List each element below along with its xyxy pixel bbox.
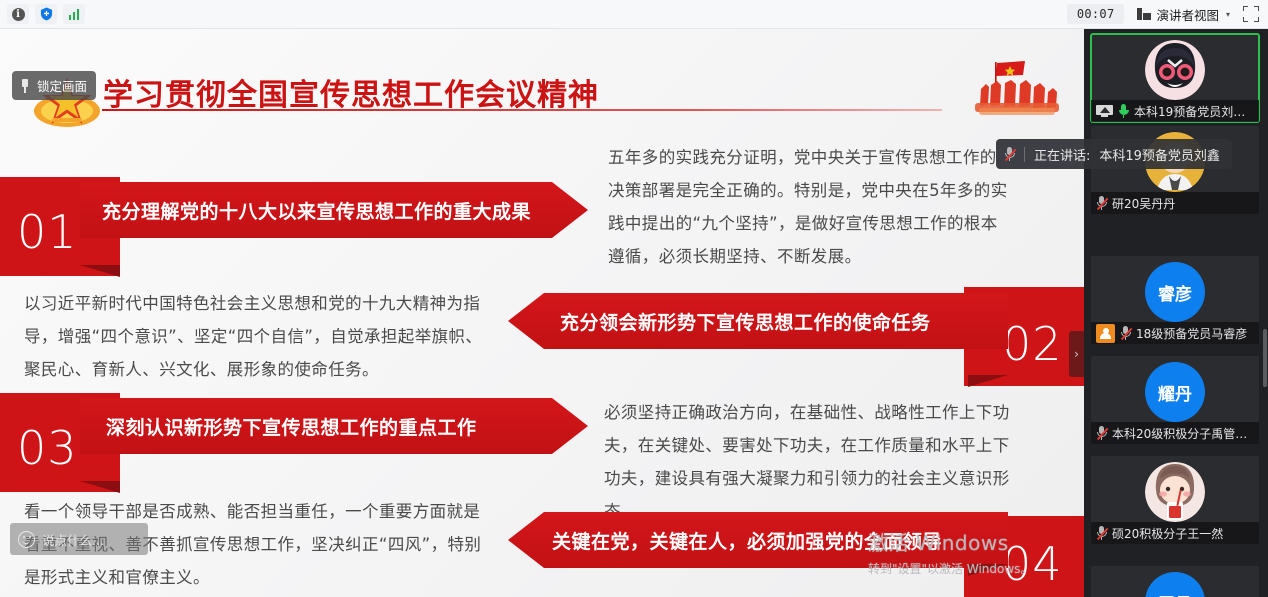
participant-footer-3: 18级预备党员马睿彦 [1091,322,1259,344]
shield-plus-icon [40,7,53,21]
avatar: 睿彦 [1145,262,1205,322]
section-01-body: 五年多的实践充分证明，党中央关于宣传思想工作的决策部署是完全正确的。特别是，党中… [608,141,1008,273]
avatar: 罗丹 [1145,572,1205,597]
top-toolbar: i 00:07 演讲者视图 ▾ [0,0,1268,29]
participant-footer-4: 本科20级积极分子禹管耀丹 [1091,422,1259,444]
microphone-muted-icon [1096,426,1107,441]
pin-icon [19,79,31,93]
avatar [1145,462,1205,522]
host-badge-icon [1096,324,1115,343]
section-02-number: 02 [1002,317,1063,371]
collapse-sidebar-button[interactable]: › [1069,331,1084,377]
network-status-button[interactable] [63,4,85,24]
chat-input[interactable]: 说点什么... [10,523,148,555]
microphone-muted-icon [1004,147,1015,162]
meeting-window: i 00:07 演讲者视图 ▾ [0,0,1268,597]
participant-footer-1: 本科19预备党员刘鑫的... [1091,100,1259,122]
avatar [1145,40,1205,100]
view-mode-selector[interactable]: 演讲者视图 ▾ [1133,3,1234,26]
participant-tile-1[interactable]: 本科19预备党员刘鑫的... [1091,34,1259,122]
fullscreen-button[interactable] [1243,6,1259,22]
participant-footer-5: 硕20积极分子王一然 [1091,522,1259,544]
microphone-muted-icon [1096,196,1107,211]
chat-input-placeholder: 说点什么... [42,530,104,549]
chevron-right-icon: › [1074,347,1079,361]
info-button[interactable]: i [7,4,29,24]
participant-name: 18级预备党员马睿彦 [1136,325,1247,342]
speaking-name: 本科19预备党员刘鑫 [1099,145,1220,164]
participant-name: 研20吴丹丹 [1112,195,1175,212]
slide-title: 学习贯彻全国宣传思想工作会议精神 [103,70,599,114]
microphone-muted-icon [1096,526,1107,541]
participant-footer-2: 研20吴丹丹 [1091,192,1259,214]
avatar: 耀丹 [1145,362,1205,422]
participant-tile-3[interactable]: 睿彦 18级预备党员马睿彦 [1091,256,1259,344]
section-03-body: 必须坚持正确政治方向，在基础性、战略性工作上下功夫，在关键处、要害处下功夫，在工… [604,396,1024,528]
lock-screen-button[interactable]: 锁定画面 [12,71,96,100]
participant-name: 硕20积极分子王一然 [1112,525,1223,542]
layout-icon [1137,8,1151,20]
section-03-banner: 深刻认识新形势下宣传思想工作的重点工作 [80,398,588,454]
watermark-line-2: 转到"设置"以激活 Windows。 [868,560,1032,577]
section-03-heading: 深刻认识新形势下宣传思想工作的重点工作 [106,413,477,440]
watermark-line-1: 激活 Windows [868,527,1032,556]
shared-screen-stage[interactable]: 学习贯彻全国宣传思想工作会议精神 01 [0,29,1084,597]
participant-sidebar[interactable]: 本科19预备党员刘鑫的... 研20吴丹丹 睿彦 [1084,29,1268,597]
windows-activation-watermark: 激活 Windows 转到"设置"以激活 Windows。 [868,527,1032,577]
screen-share-icon [1096,105,1113,118]
section-01-banner: 充分理解党的十八大以来宣传思想工作的重大成果 [80,182,588,238]
participant-tile-5[interactable]: 硕20积极分子王一然 [1091,456,1259,544]
network-signal-icon [69,8,80,20]
title-underline [102,109,942,111]
view-mode-label: 演讲者视图 [1156,5,1219,24]
toolbar-left-icons: i [0,4,85,24]
emoji-icon[interactable] [18,531,35,548]
crowd-with-flag-illustration [963,59,1069,121]
section-02-banner: 充分领会新形势下宣传思想工作的使命任务 [508,293,1008,349]
lock-screen-label: 锁定画面 [37,76,87,95]
section-03-number: 03 [17,421,78,475]
participant-name: 本科20级积极分子禹管耀丹 [1112,425,1254,442]
info-icon: i [12,8,25,21]
active-speaker-toast: 正在讲话: 本科19预备党员刘鑫 [996,139,1232,169]
speaking-prefix: 正在讲话: [1034,145,1090,164]
section-02-heading: 充分领会新形势下宣传思想工作的使命任务 [560,308,931,335]
chevron-down-icon: ▾ [1226,10,1230,19]
sidebar-scrollbar[interactable] [1263,329,1267,387]
participant-name: 本科19预备党员刘鑫的... [1134,103,1254,120]
toolbar-right-controls: 00:07 演讲者视图 ▾ [1067,3,1268,26]
section-02-body: 以习近平新时代中国特色社会主义思想和党的十九大精神为指导，增强“四个意识”、坚定… [24,287,494,386]
participant-tile-6[interactable]: 罗丹 罗丹 [1091,566,1259,597]
microphone-muted-icon [1120,326,1131,341]
toast-divider [1024,147,1025,162]
section-01-number: 01 [17,205,78,259]
microphone-on-icon [1118,104,1129,119]
meeting-timer: 00:07 [1067,4,1125,24]
participant-tile-4[interactable]: 耀丹 本科20级积极分子禹管耀丹 [1091,356,1259,444]
section-01-heading: 充分理解党的十八大以来宣传思想工作的重大成果 [102,197,531,224]
security-shield-button[interactable] [35,4,57,24]
